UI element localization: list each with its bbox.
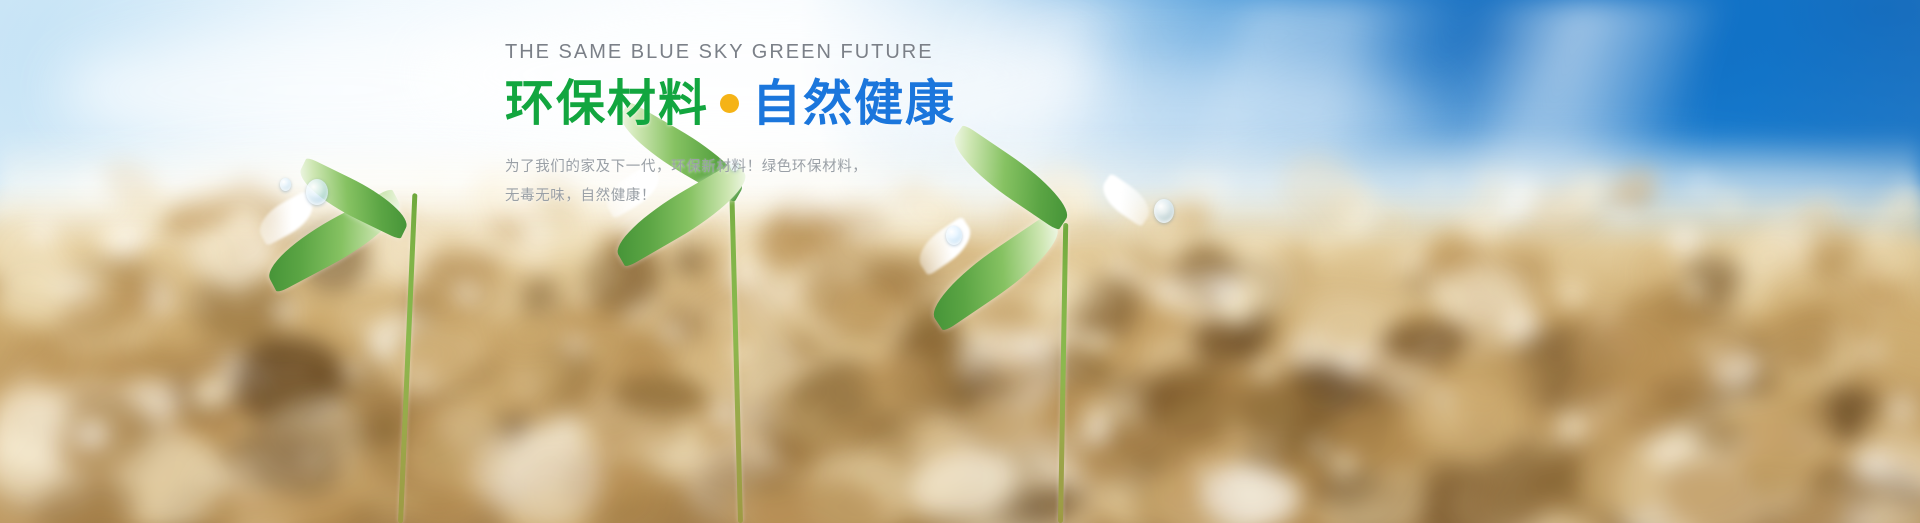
- soil-bokeh-speckle: [1080, 330, 1110, 351]
- soil-bokeh-speckle: [724, 268, 753, 289]
- soil-bokeh-speckle: [177, 430, 186, 436]
- soil-bokeh-speckle: [565, 336, 585, 355]
- soil-bokeh-speckle: [681, 298, 704, 312]
- soil-bokeh-speckle: [521, 232, 530, 238]
- soil-bokeh-speckle: [662, 464, 681, 479]
- soil-bokeh-speckle: [1396, 290, 1419, 306]
- soil-bokeh-speckle: [1329, 451, 1359, 479]
- soil-bokeh-speckle: [297, 448, 328, 470]
- soil-bokeh-speckle: [657, 321, 686, 342]
- soil-bokeh-speckle: [1133, 273, 1147, 288]
- soil-bokeh-speckle: [491, 245, 503, 258]
- soil-bokeh-speckle: [449, 423, 463, 432]
- soil-bokeh-speckle: [1886, 394, 1917, 424]
- soil-bokeh-speckle: [28, 416, 41, 427]
- soil-bokeh-speckle: [914, 439, 930, 455]
- soil-bokeh-speckle: [1119, 230, 1128, 236]
- soil-bokeh-speckle: [1241, 235, 1269, 255]
- soil-bokeh-speckle: [522, 271, 534, 279]
- soil-bokeh-speckle: [1031, 380, 1053, 394]
- soil-bokeh-speckle: [147, 288, 174, 316]
- soil-bokeh-speckle: [309, 412, 321, 420]
- soil-bokeh-speckle: [1149, 277, 1177, 300]
- soil-bokeh-speckle: [288, 317, 296, 325]
- soil-bokeh-speckle: [20, 371, 32, 380]
- soil-bokeh-speckle: [1425, 274, 1454, 299]
- soil-bokeh-speckle: [510, 460, 529, 478]
- soil-bokeh-speckle: [372, 336, 394, 352]
- orange-dot-icon: [720, 94, 739, 113]
- soil-bokeh-speckle: [1528, 398, 1538, 407]
- hero-banner: THE SAME BLUE SKY GREEN FUTURE 环保材料自然健康 …: [0, 0, 1920, 523]
- soil-bokeh-speckle: [1309, 227, 1338, 255]
- soil-bokeh-speckle: [324, 399, 339, 415]
- soil-clod: [1155, 356, 1207, 388]
- headline-blue-text: 自然健康: [752, 77, 956, 131]
- soil-bokeh-speckle: [1272, 227, 1290, 244]
- headline-green-text: 环保材料: [505, 77, 709, 131]
- soil-bokeh-speckle: [1557, 282, 1588, 309]
- soil-bokeh-speckle: [974, 341, 990, 356]
- soil-bokeh-speckle: [1865, 225, 1893, 251]
- soil-bokeh-speckle: [742, 367, 772, 399]
- soil-bokeh-speckle: [1257, 436, 1284, 465]
- soil-bokeh-speckle: [1375, 271, 1388, 281]
- soil-bokeh-speckle: [1223, 301, 1253, 325]
- soil-bokeh-speckle: [1715, 304, 1728, 314]
- soil-bokeh-speckle: [1832, 323, 1847, 334]
- soil-bokeh-speckle: [1863, 342, 1882, 360]
- soil-bokeh-speckle: [625, 305, 645, 325]
- soil-bokeh-speckle: [755, 465, 767, 477]
- soil-bokeh-speckle: [520, 377, 535, 393]
- subtitle-line: 为了我们的家及下一代，环保新材料！绿色环保材料，: [505, 153, 1205, 182]
- soil-bokeh-speckle: [907, 363, 914, 369]
- subtitle-line: 无毒无味，自然健康！: [505, 182, 1205, 211]
- soil-bokeh-speckle: [711, 403, 733, 424]
- banner-copy: THE SAME BLUE SKY GREEN FUTURE 环保材料自然健康 …: [505, 40, 1205, 211]
- soil-bokeh-speckle: [1067, 365, 1085, 376]
- soil-bokeh-speckle: [243, 243, 274, 266]
- soil-bokeh-speckle: [754, 447, 773, 466]
- soil-bokeh-speckle: [554, 415, 580, 439]
- soil-bokeh-speckle: [772, 270, 781, 276]
- soil-bokeh-speckle: [1240, 280, 1264, 301]
- soil-bokeh-speckle: [1084, 402, 1110, 427]
- water-droplet: [280, 178, 291, 191]
- soil-bokeh-speckle: [643, 296, 669, 315]
- soil-bokeh-speckle: [1309, 439, 1328, 455]
- banner-subtitle: 为了我们的家及下一代，环保新材料！绿色环保材料， 无毒无味，自然健康！: [505, 153, 1205, 211]
- water-droplet: [306, 179, 328, 205]
- soil-bokeh-speckle: [1414, 248, 1423, 256]
- soil-bokeh-speckle: [641, 284, 650, 293]
- soil-bokeh-speckle: [1157, 243, 1178, 257]
- soil-bokeh-speckle: [640, 432, 652, 441]
- soil-clod: [400, 288, 437, 323]
- soil-bokeh-speckle: [206, 248, 236, 273]
- soil-bokeh-speckle: [775, 346, 798, 369]
- soil-bokeh-speckle: [341, 308, 372, 332]
- water-droplet: [946, 226, 962, 245]
- soil-bokeh-speckle: [1794, 427, 1806, 437]
- banner-tagline: THE SAME BLUE SKY GREEN FUTURE: [505, 40, 1205, 64]
- soil-bokeh-speckle: [358, 273, 376, 287]
- soil-bokeh-speckle: [1872, 310, 1886, 322]
- soil-bokeh-speckle: [406, 369, 435, 395]
- soil-bokeh-speckle: [1254, 360, 1277, 380]
- soil-bokeh-speckle: [574, 294, 586, 305]
- soil-bokeh-speckle: [127, 223, 152, 244]
- soil-bokeh-speckle: [1105, 258, 1134, 279]
- soil-bokeh-speckle: [239, 453, 259, 467]
- banner-headline: 环保材料自然健康: [505, 74, 1205, 135]
- soil-bokeh-speckle: [1435, 387, 1454, 404]
- soil-bokeh-speckle: [1670, 225, 1700, 250]
- soil-bokeh-speckle: [1210, 274, 1242, 300]
